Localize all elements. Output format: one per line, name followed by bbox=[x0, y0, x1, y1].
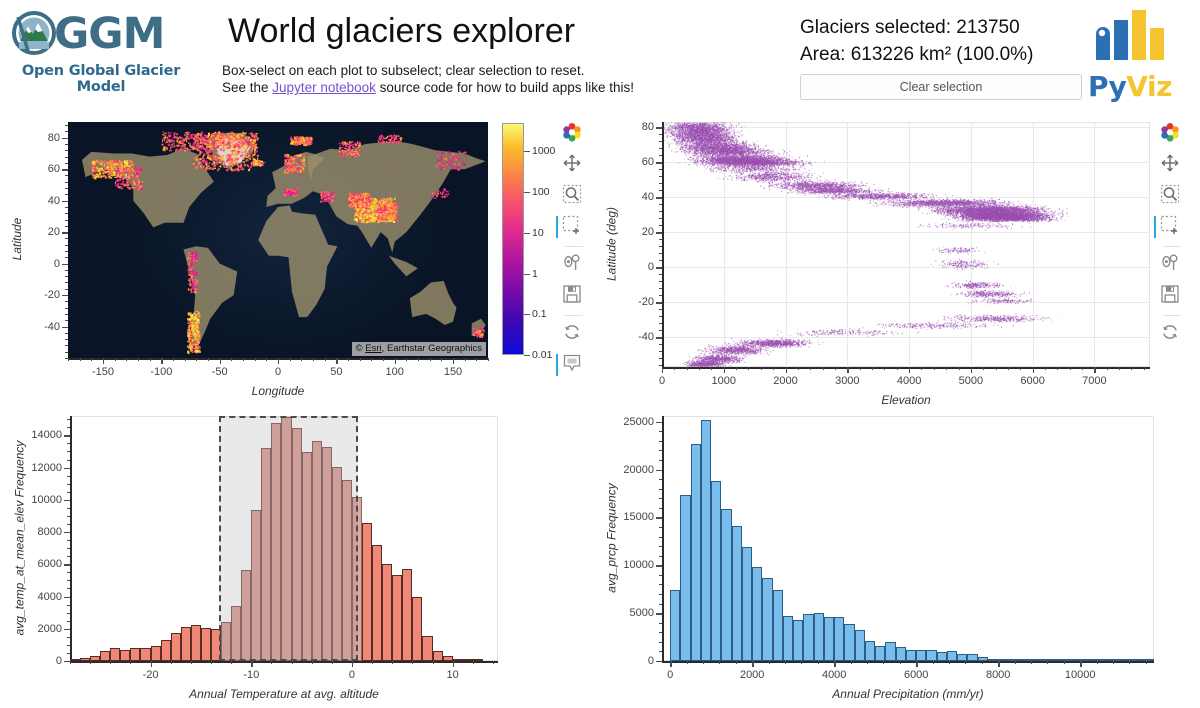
histogram-bar bbox=[773, 590, 783, 661]
x-axis-minor-tick bbox=[191, 661, 192, 664]
x-axis-minor-tick bbox=[883, 661, 884, 664]
x-axis-minor-tick bbox=[801, 661, 802, 664]
colorbar-tick-label: 1000 bbox=[532, 145, 555, 157]
histogram-bar bbox=[412, 597, 422, 661]
help-icon[interactable] bbox=[562, 353, 586, 377]
histogram-bar bbox=[422, 636, 432, 661]
histogram-bar bbox=[392, 575, 402, 661]
x-axis-minor-tick bbox=[360, 358, 361, 361]
instruction-line-2: See the Jupyter notebook source code for… bbox=[222, 79, 634, 96]
selection-stats: Glaciers selected: 213750 Area: 613226 k… bbox=[800, 14, 1033, 68]
x-axis-minor-tick bbox=[325, 358, 326, 361]
save-icon[interactable] bbox=[562, 284, 586, 308]
x-axis-minor-tick bbox=[1146, 661, 1147, 664]
x-axis-label: Annual Temperature at avg. altitude bbox=[70, 687, 498, 701]
x-axis-minor-tick bbox=[1015, 661, 1016, 664]
x-axis-minor-tick bbox=[488, 358, 489, 361]
colorbar-tick-label: 0.1 bbox=[532, 308, 547, 320]
x-axis-tick-label: 0 bbox=[659, 375, 665, 387]
histogram-bar bbox=[151, 646, 161, 661]
x-axis-minor-tick bbox=[412, 661, 413, 664]
instruction-suffix: source code for how to build apps like t… bbox=[376, 80, 634, 95]
histogram-bar bbox=[473, 659, 483, 661]
x-axis-minor-tick bbox=[1008, 367, 1009, 370]
histogram-bar bbox=[937, 652, 947, 661]
histogram-bar bbox=[701, 420, 711, 661]
box-zoom-icon[interactable] bbox=[562, 184, 586, 208]
x-axis-tick-label: 10 bbox=[447, 669, 459, 681]
instruction-prefix: See the bbox=[222, 80, 272, 95]
colorbar-tick bbox=[524, 314, 530, 315]
histogram-bar bbox=[691, 444, 701, 661]
x-axis-tick bbox=[662, 367, 663, 373]
x-axis-minor-tick bbox=[383, 358, 384, 361]
bokeh-logo-icon bbox=[1160, 122, 1184, 146]
x-axis-minor-tick bbox=[465, 358, 466, 361]
box-zoom-icon[interactable] bbox=[1160, 184, 1184, 208]
x-axis-tick-label: -50 bbox=[212, 366, 228, 378]
x-axis-minor-tick bbox=[1057, 367, 1058, 370]
x-axis-minor-tick bbox=[493, 661, 494, 664]
x-axis-tick bbox=[161, 358, 162, 364]
x-axis-minor-tick bbox=[719, 661, 720, 664]
chart-precipitation-histogram[interactable]: 0200040006000800010000050001000015000200… bbox=[600, 400, 1200, 708]
x-axis-minor-tick bbox=[110, 661, 111, 664]
x-axis-tick-label: -20 bbox=[143, 669, 159, 681]
x-axis-minor-tick bbox=[900, 661, 901, 664]
x-axis-minor-tick bbox=[818, 661, 819, 664]
x-axis-tick bbox=[752, 661, 753, 667]
x-axis-minor-tick bbox=[1129, 661, 1130, 664]
x-axis-tick-label: 6000 bbox=[1020, 375, 1044, 387]
x-axis-tick-label: 1000 bbox=[712, 375, 736, 387]
x-axis-tick-label: 0 bbox=[667, 669, 673, 681]
chart-temperature-histogram[interactable]: -20-100100200040006000800010000120001400… bbox=[0, 400, 600, 708]
hover-icon[interactable] bbox=[562, 253, 586, 277]
histogram-bar bbox=[201, 628, 211, 661]
x-axis-minor-tick bbox=[418, 358, 419, 361]
x-axis-minor-tick bbox=[897, 367, 898, 370]
x-axis-minor-tick bbox=[949, 661, 950, 664]
x-axis-minor-tick bbox=[851, 661, 852, 664]
histogram-bar bbox=[372, 545, 382, 661]
histogram-bar bbox=[90, 656, 100, 661]
histogram-bar bbox=[362, 523, 372, 661]
colorbar-tick-label: 100 bbox=[532, 186, 550, 198]
x-axis-minor-tick bbox=[810, 367, 811, 370]
x-axis-minor-tick bbox=[1082, 367, 1083, 370]
x-axis-minor-tick bbox=[934, 367, 935, 370]
x-axis-tick-label: 150 bbox=[444, 366, 462, 378]
save-icon[interactable] bbox=[1160, 284, 1184, 308]
x-axis-tick-label: 0 bbox=[349, 669, 355, 681]
reset-icon[interactable] bbox=[1160, 322, 1184, 346]
histogram-bar bbox=[711, 481, 721, 661]
pan-icon[interactable] bbox=[1160, 153, 1184, 177]
ggm-logo-subtitle: Open Global Glacier Model bbox=[8, 63, 194, 95]
area-selected-value: Area: 613226 km² (100.0%) bbox=[800, 41, 1033, 68]
x-axis-minor-tick bbox=[126, 358, 127, 361]
x-axis-minor-tick bbox=[867, 661, 868, 664]
x-axis-minor-tick bbox=[1107, 367, 1108, 370]
toolbar-separator bbox=[1163, 315, 1181, 316]
histogram-bar bbox=[752, 567, 762, 661]
x-axis-tick bbox=[916, 661, 917, 667]
histogram-bar bbox=[120, 650, 130, 661]
x-axis-minor-tick bbox=[1047, 661, 1048, 664]
x-axis-minor-tick bbox=[433, 661, 434, 664]
ggm-glacier-icon bbox=[8, 8, 60, 60]
x-axis-minor-tick bbox=[736, 661, 737, 664]
x-axis-minor-tick bbox=[946, 367, 947, 370]
histogram-bar bbox=[80, 658, 90, 661]
x-axis-minor-tick bbox=[372, 661, 373, 664]
x-axis-minor-tick bbox=[441, 358, 442, 361]
histogram-bar bbox=[906, 650, 916, 661]
y-axis-label: Latitude bbox=[10, 121, 24, 357]
bokeh-toolbar[interactable] bbox=[558, 122, 590, 384]
pyviz-logo: PyViz bbox=[1088, 6, 1186, 98]
x-axis-minor-tick bbox=[769, 661, 770, 664]
pyviz-word-py: Py bbox=[1088, 70, 1126, 103]
clear-selection-button[interactable]: Clear selection bbox=[800, 74, 1082, 100]
histogram-bar bbox=[670, 590, 680, 661]
histogram-bar bbox=[814, 613, 824, 661]
x-axis-minor-tick bbox=[1070, 367, 1071, 370]
histogram-bar bbox=[191, 625, 201, 661]
x-axis-minor-tick bbox=[130, 661, 131, 664]
x-axis-minor-tick bbox=[70, 661, 71, 664]
app-header: GGM Open Global Glacier Model World glac… bbox=[0, 0, 1200, 110]
box-select-icon[interactable] bbox=[1160, 215, 1184, 239]
x-axis-minor-tick bbox=[959, 367, 960, 370]
pyviz-wordmark: PyViz bbox=[1088, 73, 1186, 101]
ggm-logo-letters: GGM bbox=[54, 13, 164, 56]
histogram-bar bbox=[1019, 659, 1029, 661]
x-axis-tick-label: 8000 bbox=[986, 669, 1010, 681]
histogram-bar bbox=[742, 547, 752, 661]
y-axis-tick bbox=[64, 661, 70, 662]
x-axis-tick bbox=[151, 661, 152, 667]
x-axis-minor-tick bbox=[231, 358, 232, 361]
x-axis-minor-tick bbox=[1031, 661, 1032, 664]
pyviz-bars-icon bbox=[1088, 6, 1184, 66]
x-axis-tick bbox=[395, 358, 396, 364]
x-axis-tick-label: 100 bbox=[385, 366, 403, 378]
x-axis-minor-tick bbox=[860, 367, 861, 370]
x-axis-minor-tick bbox=[1131, 367, 1132, 370]
x-axis-minor-tick bbox=[406, 358, 407, 361]
toolbar-separator bbox=[565, 315, 583, 316]
page-title: World glaciers explorer bbox=[228, 12, 575, 51]
x-axis-tick bbox=[453, 358, 454, 364]
x-axis-tick-label: 6000 bbox=[904, 669, 928, 681]
y-axis-label: avg_prcp Frequency bbox=[604, 415, 618, 660]
histogram-bar bbox=[762, 578, 772, 661]
histogram-bars-precipitation[interactable] bbox=[662, 416, 1154, 661]
x-axis-minor-tick bbox=[312, 661, 313, 664]
x-axis-tick bbox=[724, 367, 725, 373]
x-axis-tick bbox=[103, 358, 104, 364]
histogram-bar bbox=[926, 650, 936, 661]
x-axis-tick-label: 4000 bbox=[897, 375, 921, 387]
map-colorbar bbox=[502, 123, 524, 355]
histogram-bar bbox=[181, 627, 191, 661]
toolbar-separator bbox=[565, 246, 583, 247]
chart-map[interactable]: -150-100-50050100150806040200-20-40Longi… bbox=[0, 110, 600, 400]
x-axis-tick-label: -150 bbox=[92, 366, 114, 378]
x-axis-minor-tick bbox=[243, 358, 244, 361]
bokeh-logo-icon bbox=[562, 122, 586, 146]
toolbar-active-indicator bbox=[1154, 216, 1156, 238]
x-axis-minor-tick bbox=[255, 358, 256, 361]
x-axis-minor-tick bbox=[982, 661, 983, 664]
x-axis-minor-tick bbox=[983, 367, 984, 370]
toolbar-active-indicator bbox=[556, 216, 558, 238]
scatter-points bbox=[662, 122, 1150, 367]
x-axis-tick bbox=[278, 358, 279, 364]
colorbar-tick bbox=[524, 233, 530, 234]
histogram-bar bbox=[402, 569, 412, 661]
x-axis-minor-tick bbox=[430, 358, 431, 361]
x-axis-minor-tick bbox=[1020, 367, 1021, 370]
x-axis-tick bbox=[971, 367, 972, 373]
x-axis-line bbox=[70, 661, 498, 663]
histogram-bar bbox=[988, 659, 998, 661]
x-axis-minor-tick bbox=[872, 367, 873, 370]
instructions-block: Box-select on each plot to subselect; cl… bbox=[222, 62, 634, 96]
histogram-bar bbox=[1029, 659, 1039, 661]
x-axis-label: Longitude bbox=[68, 384, 488, 398]
glaciers-selected-count: Glaciers selected: 213750 bbox=[800, 14, 1033, 41]
colorbar-tick-label: 0.01 bbox=[532, 349, 552, 361]
x-axis-tick bbox=[251, 661, 252, 667]
x-axis-tick bbox=[220, 358, 221, 364]
x-axis-tick bbox=[998, 661, 999, 667]
x-axis-tick-label: 2000 bbox=[740, 669, 764, 681]
colorbar-tick bbox=[524, 274, 530, 275]
x-axis-minor-tick bbox=[90, 661, 91, 664]
pyviz-word-viz: Viz bbox=[1126, 70, 1172, 103]
x-axis-minor-tick bbox=[785, 661, 786, 664]
x-axis-tick bbox=[834, 661, 835, 667]
x-axis-minor-tick bbox=[703, 661, 704, 664]
toolbar-separator bbox=[1163, 246, 1181, 247]
colorbar-tick-label: 10 bbox=[532, 227, 544, 239]
x-axis-minor-tick bbox=[208, 358, 209, 361]
jupyter-notebook-link[interactable]: Jupyter notebook bbox=[272, 80, 376, 95]
histogram-bar bbox=[382, 564, 392, 661]
x-axis-minor-tick bbox=[711, 367, 712, 370]
histogram-bar bbox=[978, 657, 988, 661]
box-selection-overlay[interactable] bbox=[219, 416, 358, 661]
world-basemap[interactable]: © Esri, Earthstar Geographics bbox=[68, 122, 488, 358]
histogram-bar bbox=[1008, 659, 1018, 661]
x-axis-minor-tick bbox=[80, 358, 81, 361]
x-axis-tick-label: -100 bbox=[150, 366, 172, 378]
x-axis-tick bbox=[352, 661, 353, 667]
x-axis-minor-tick bbox=[699, 367, 700, 370]
histogram-bar bbox=[171, 633, 181, 661]
bokeh-toolbar[interactable] bbox=[1156, 122, 1188, 353]
x-axis-minor-tick bbox=[348, 358, 349, 361]
map-attribution: © Esri, Earthstar Geographics bbox=[352, 342, 486, 356]
ggm-logo: GGM Open Global Glacier Model bbox=[8, 6, 194, 84]
x-axis-minor-tick bbox=[115, 358, 116, 361]
histogram-bar bbox=[855, 630, 865, 661]
histogram-bar bbox=[453, 659, 463, 661]
histogram-bar bbox=[834, 617, 844, 661]
x-axis-minor-tick bbox=[835, 367, 836, 370]
x-axis-minor-tick bbox=[933, 661, 934, 664]
histogram-bar bbox=[161, 640, 171, 661]
x-axis-minor-tick bbox=[171, 661, 172, 664]
x-axis-minor-tick bbox=[1064, 661, 1065, 664]
x-axis-minor-tick bbox=[1119, 367, 1120, 370]
y-axis-tick bbox=[656, 661, 662, 662]
x-axis-minor-tick bbox=[332, 661, 333, 664]
histogram-bar bbox=[443, 656, 453, 661]
x-axis-minor-tick bbox=[138, 358, 139, 361]
x-axis-minor-tick bbox=[761, 367, 762, 370]
x-axis-tick bbox=[909, 367, 910, 373]
histogram-bar bbox=[998, 659, 1008, 661]
x-axis-tick-label: 50 bbox=[330, 366, 342, 378]
toolbar-active-indicator bbox=[556, 354, 558, 376]
x-axis-minor-tick bbox=[150, 358, 151, 361]
histogram-bar bbox=[947, 651, 957, 661]
box-select-icon[interactable] bbox=[562, 215, 586, 239]
x-axis-tick-label: 5000 bbox=[959, 375, 983, 387]
x-axis-minor-tick bbox=[473, 661, 474, 664]
histogram-bar bbox=[783, 616, 793, 661]
x-axis-minor-tick bbox=[292, 661, 293, 664]
x-axis-minor-tick bbox=[736, 367, 737, 370]
x-axis-minor-tick bbox=[392, 661, 393, 664]
histogram-bar bbox=[70, 659, 80, 661]
x-axis-minor-tick bbox=[68, 358, 69, 361]
x-axis-minor-tick bbox=[173, 358, 174, 361]
pan-icon[interactable] bbox=[562, 153, 586, 177]
x-axis-tick-label: 10000 bbox=[1065, 669, 1096, 681]
histogram-bar bbox=[680, 495, 690, 661]
x-axis-minor-tick bbox=[773, 367, 774, 370]
histogram-bar bbox=[140, 648, 150, 661]
x-axis-minor-tick bbox=[996, 367, 997, 370]
instruction-line-1: Box-select on each plot to subselect; cl… bbox=[222, 62, 634, 79]
reset-icon[interactable] bbox=[562, 322, 586, 346]
x-axis-minor-tick bbox=[211, 661, 212, 664]
x-axis-minor-tick bbox=[301, 358, 302, 361]
hover-icon[interactable] bbox=[1160, 253, 1184, 277]
histogram-bar bbox=[885, 642, 895, 661]
colorbar-tick bbox=[524, 151, 530, 152]
x-axis-tick bbox=[1080, 661, 1081, 667]
x-axis-tick-label: 2000 bbox=[773, 375, 797, 387]
x-axis-minor-tick bbox=[196, 358, 197, 361]
x-axis-minor-tick bbox=[687, 661, 688, 664]
y-axis-label: Latitude (deg) bbox=[604, 121, 618, 366]
histogram-bar bbox=[844, 624, 854, 661]
x-axis-tick bbox=[1094, 367, 1095, 373]
x-axis-minor-tick bbox=[185, 358, 186, 361]
x-axis-minor-tick bbox=[271, 661, 272, 664]
x-axis-minor-tick bbox=[91, 358, 92, 361]
histogram-bar bbox=[721, 509, 731, 661]
x-axis-minor-tick bbox=[884, 367, 885, 370]
x-axis-tick-label: 7000 bbox=[1082, 375, 1106, 387]
x-axis-minor-tick bbox=[798, 367, 799, 370]
x-axis-minor-tick bbox=[965, 661, 966, 664]
esri-link[interactable]: Esri bbox=[365, 343, 381, 354]
x-axis-tick bbox=[453, 661, 454, 667]
chart-latitude-vs-elevation[interactable]: 01000200030004000500060007000806040200-2… bbox=[600, 110, 1200, 400]
x-axis-minor-tick bbox=[371, 358, 372, 361]
x-axis-minor-tick bbox=[313, 358, 314, 361]
x-axis-tick bbox=[847, 367, 848, 373]
histogram-bar bbox=[967, 654, 977, 661]
x-axis-minor-tick bbox=[266, 358, 267, 361]
y-axis-label: avg_temp_at_mean_elev Frequency bbox=[12, 415, 26, 660]
histogram-bar bbox=[896, 647, 906, 661]
x-axis-tick bbox=[670, 661, 671, 667]
x-axis-tick-label: 3000 bbox=[835, 375, 859, 387]
x-axis-minor-tick bbox=[921, 367, 922, 370]
x-axis-minor-tick bbox=[823, 367, 824, 370]
x-axis-minor-tick bbox=[674, 367, 675, 370]
x-axis-minor-tick bbox=[1045, 367, 1046, 370]
glaciers-explorer-app: GGM Open Global Glacier Model World glac… bbox=[0, 0, 1200, 708]
histogram-tail-baseline bbox=[1039, 659, 1154, 661]
histogram-bar bbox=[916, 650, 926, 661]
glacier-points bbox=[68, 122, 488, 358]
histogram-bar bbox=[732, 526, 742, 661]
x-axis-minor-tick bbox=[1113, 661, 1114, 664]
histogram-bar bbox=[463, 659, 473, 661]
colorbar-tick-label: 1 bbox=[532, 268, 538, 280]
colorbar-tick bbox=[524, 192, 530, 193]
x-axis-label: Annual Precipitation (mm/yr) bbox=[662, 687, 1154, 701]
x-axis-minor-tick bbox=[1144, 367, 1145, 370]
histogram-bar bbox=[100, 651, 110, 661]
y-axis-minor-tick bbox=[65, 358, 68, 359]
x-axis-tick-label: -10 bbox=[243, 669, 259, 681]
x-axis-tick bbox=[1033, 367, 1034, 373]
x-axis-minor-tick bbox=[290, 358, 291, 361]
x-axis-minor-tick bbox=[476, 358, 477, 361]
histogram-bar bbox=[433, 651, 443, 661]
x-axis-tick-label: 0 bbox=[275, 366, 281, 378]
histogram-bar bbox=[957, 654, 967, 661]
colorbar-tick bbox=[524, 355, 530, 356]
x-axis-minor-tick bbox=[748, 367, 749, 370]
x-axis-minor-tick bbox=[687, 367, 688, 370]
x-axis-tick bbox=[336, 358, 337, 364]
histogram-bar bbox=[110, 648, 120, 661]
x-axis-tick bbox=[786, 367, 787, 373]
histogram-bar bbox=[793, 620, 803, 661]
histogram-bar bbox=[875, 646, 885, 661]
x-axis-tick-label: 4000 bbox=[822, 669, 846, 681]
histogram-bar bbox=[130, 648, 140, 661]
histogram-bar bbox=[803, 614, 813, 661]
x-axis-minor-tick bbox=[231, 661, 232, 664]
x-axis-minor-tick bbox=[1097, 661, 1098, 664]
histogram-bar bbox=[865, 641, 875, 661]
histogram-bar bbox=[824, 617, 834, 661]
